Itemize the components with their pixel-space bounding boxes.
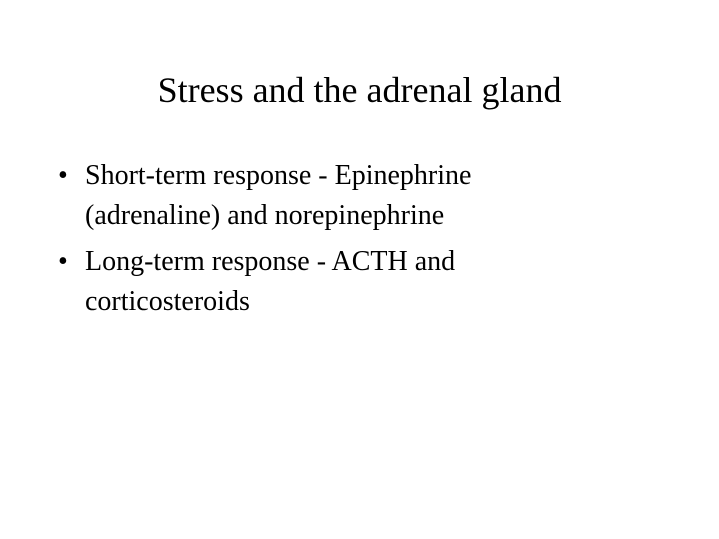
- bullet-icon: •: [58, 242, 80, 282]
- presentation-slide: Stress and the adrenal gland • Short-ter…: [0, 0, 719, 539]
- bullet-icon: •: [58, 156, 80, 196]
- bullet-text-short-term: Short-term response - Epinephrine (adren…: [85, 156, 545, 236]
- page-title: Stress and the adrenal gland: [0, 68, 719, 112]
- bullet-list: • Short-term response - Epinephrine (adr…: [58, 156, 658, 322]
- list-item: • Short-term response - Epinephrine (adr…: [58, 156, 658, 236]
- bullet-text-long-term: Long-term response - ACTH and corticoste…: [85, 242, 545, 322]
- list-item: • Long-term response - ACTH and corticos…: [58, 242, 658, 322]
